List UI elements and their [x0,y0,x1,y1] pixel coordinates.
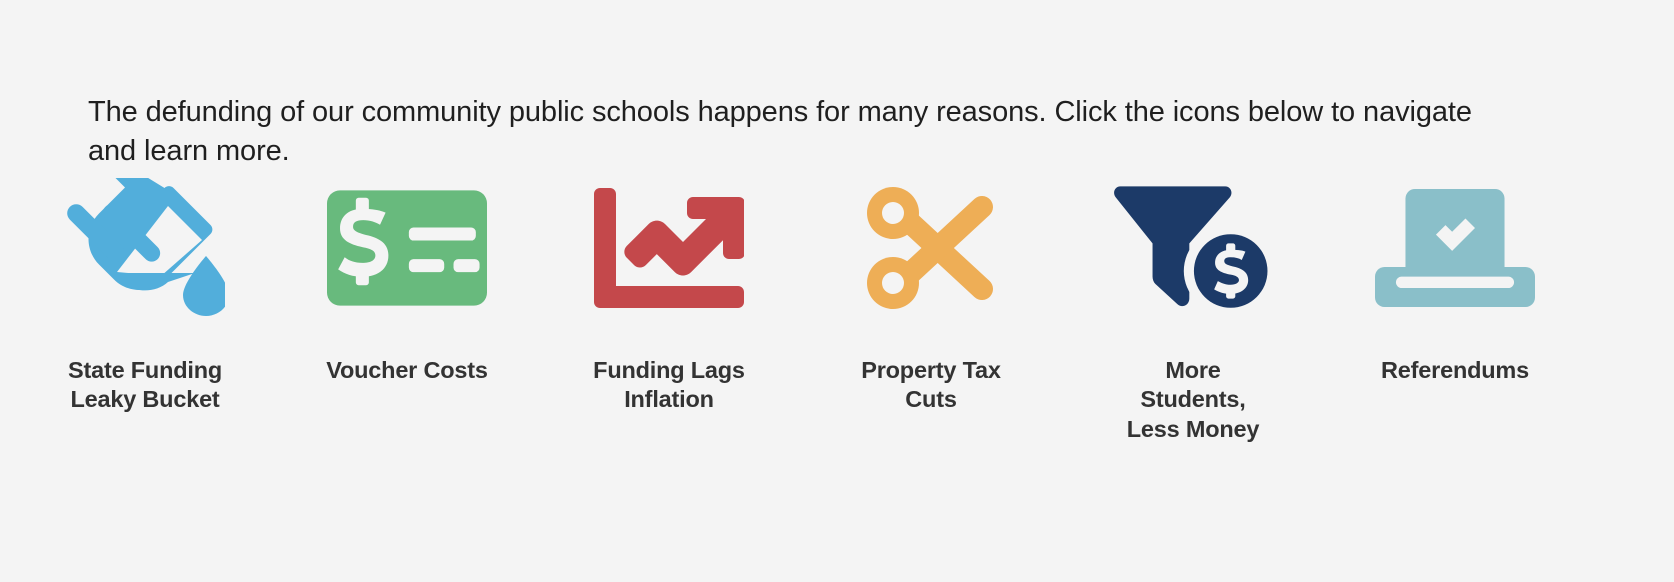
money-check-dollar-icon[interactable] [327,178,487,318]
infographic-page: The defunding of our community public sc… [0,0,1674,582]
paint-bucket-drop-icon[interactable] [65,178,225,318]
tile-label: Funding Lags Inflation [593,356,745,415]
tile-more-students-less-money[interactable]: More Students, Less Money [1062,178,1324,444]
tile-label: Property Tax Cuts [861,356,1001,415]
tile-label: More Students, Less Money [1127,356,1260,444]
tile-referendums[interactable]: Referendums [1324,178,1586,385]
tile-voucher-costs[interactable]: Voucher Costs [276,178,538,385]
ballot-box-check-icon[interactable] [1375,178,1535,318]
tile-funding-lags-inflation[interactable]: Funding Lags Inflation [538,178,800,415]
tile-label: State Funding Leaky Bucket [68,356,222,415]
chart-line-up-arrow-icon[interactable] [589,178,749,318]
tile-label: Referendums [1381,356,1529,385]
intro-paragraph: The defunding of our community public sc… [88,93,1478,170]
tile-label: Voucher Costs [326,356,488,385]
funnel-dollar-icon[interactable] [1113,178,1273,318]
tile-state-funding-leaky-bucket[interactable]: State Funding Leaky Bucket [14,178,276,415]
icon-navigation-row: State Funding Leaky Bucket Voucher [0,178,1674,444]
tile-property-tax-cuts[interactable]: Property Tax Cuts [800,178,1062,415]
scissors-icon[interactable] [851,178,1011,318]
